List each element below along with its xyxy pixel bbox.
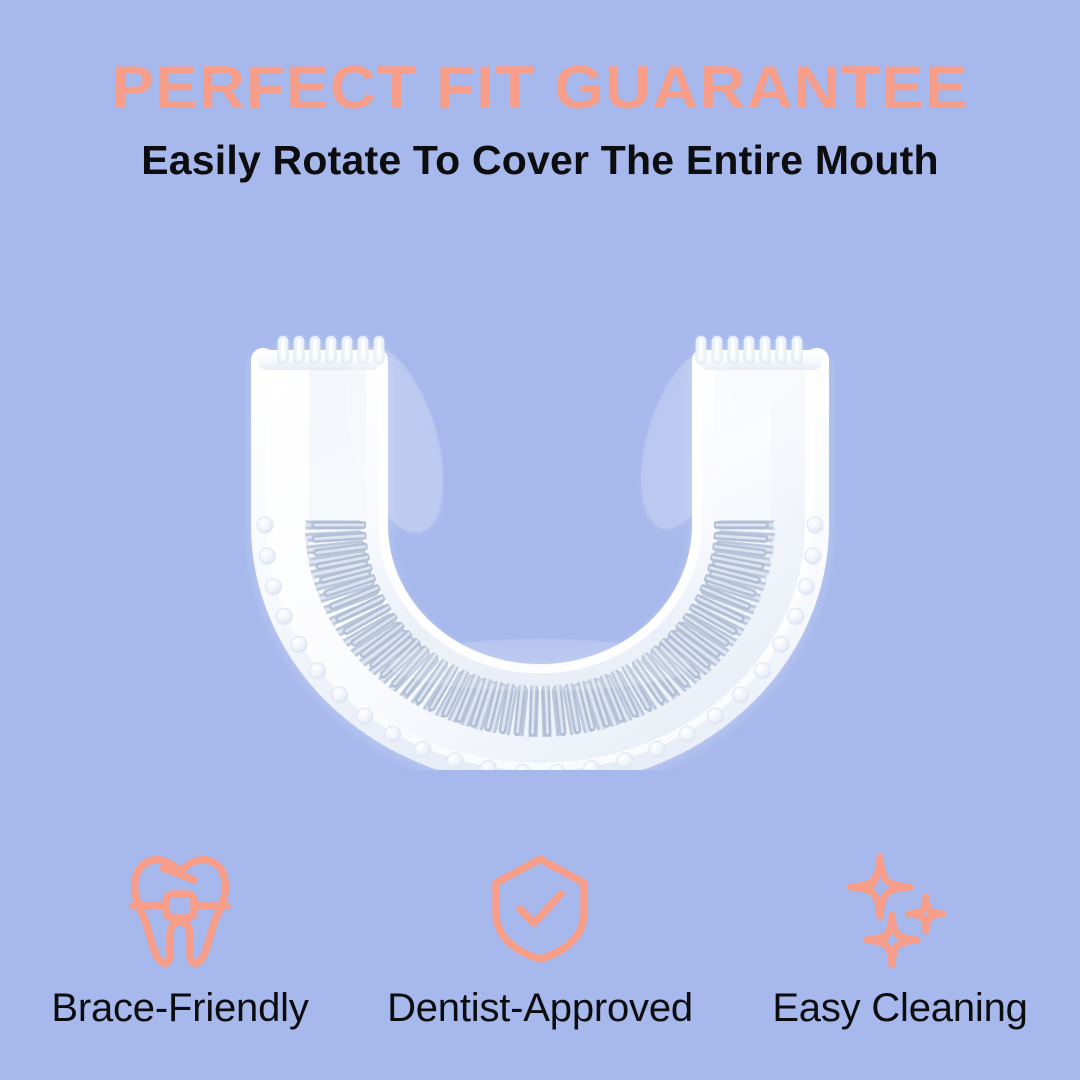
sparkles-icon bbox=[840, 850, 960, 968]
feature-label: Brace-Friendly bbox=[51, 986, 308, 1031]
header-block: PERFECT FIT GUARANTEE Easily Rotate To C… bbox=[0, 0, 1080, 183]
poster-canvas: PERFECT FIT GUARANTEE Easily Rotate To C… bbox=[0, 0, 1080, 1080]
arm-tops bbox=[257, 336, 823, 370]
feature-dentist-approved: Dentist-Approved bbox=[360, 850, 720, 1031]
feature-easy-cleaning: Easy Cleaning bbox=[720, 850, 1080, 1031]
shield-check-icon bbox=[480, 850, 600, 968]
feature-row: Brace-Friendly Dentist-Approved bbox=[0, 850, 1080, 1031]
tooth-braces-icon bbox=[120, 850, 240, 968]
page-subtitle: Easily Rotate To Cover The Entire Mouth bbox=[0, 118, 1080, 183]
product-body bbox=[257, 336, 823, 770]
feature-brace-friendly: Brace-Friendly bbox=[0, 850, 360, 1031]
feature-label: Easy Cleaning bbox=[772, 986, 1027, 1031]
feature-label: Dentist-Approved bbox=[387, 986, 693, 1031]
page-title: PERFECT FIT GUARANTEE bbox=[0, 0, 1080, 118]
product-image bbox=[205, 320, 875, 770]
